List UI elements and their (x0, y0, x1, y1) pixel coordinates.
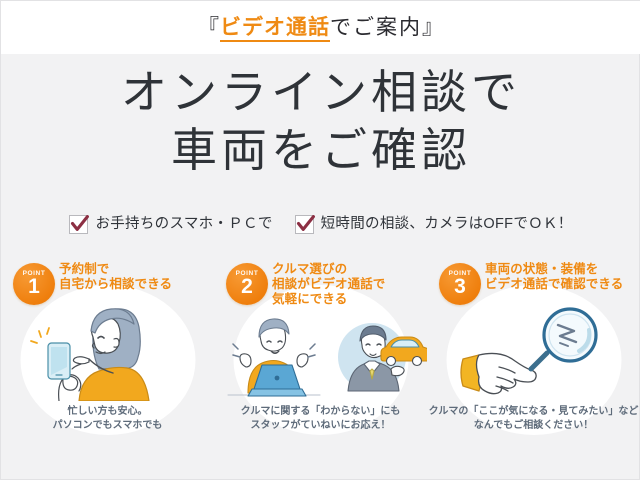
point-card-1: POINT 1 予約制で 自宅から相談できる (1, 257, 214, 457)
kicker-text: 『ビデオ通話でご案内』 (1, 13, 640, 43)
page-title: オンライン相談で 車両をご確認 (1, 63, 640, 179)
hand-holding-magnifying-glass-illustration (427, 301, 640, 401)
point-card-caption-line: クルマに関する「わからない」にも (214, 405, 427, 419)
point-badge-number: 1 (13, 276, 55, 298)
point-badge-3: POINT 3 (439, 263, 481, 305)
point-badge-number: 3 (439, 276, 481, 298)
kicker-tail: でご案内 (330, 16, 422, 39)
point-card-title-line: ビデオ通話で確認できる (485, 277, 637, 292)
point-card-title-line: 予約制で (59, 262, 211, 277)
point-card-3: POINT 3 車両の状態・装備を ビデオ通話で確認できる (427, 257, 640, 457)
headline-line-1: オンライン相談で (1, 63, 640, 121)
feature-check-item-1: お手持ちのスマホ・ＰＣで (69, 215, 272, 234)
point-badge-1: POINT 1 (13, 263, 55, 305)
point-card-title-line: 気軽にできる (272, 292, 424, 307)
point-card-caption-line: なんでもご相談ください！ (427, 419, 640, 433)
point-card-title-line: 自宅から相談できる (59, 277, 211, 292)
point-card-caption-line: クルマの「ここが気になる・見てみたい」など (427, 405, 640, 419)
point-badge-word: POINT (13, 263, 55, 277)
point-badge-2: POINT 2 (226, 263, 268, 305)
point-card-2: POINT 2 クルマ選びの 相談がビデオ通話で 気軽にできる (214, 257, 427, 457)
kicker-close-bracket: 』 (422, 16, 444, 39)
feature-check-row: お手持ちのスマホ・ＰＣで 短時間の相談、カメラはOFFでＯＫ！ (1, 215, 640, 234)
point-card-title-2: クルマ選びの 相談がビデオ通話で 気軽にできる (272, 262, 424, 307)
point-badge-number: 2 (226, 276, 268, 298)
woman-at-laptop-and-staff-with-car-illustration (214, 301, 427, 401)
feature-check-label-1: お手持ちのスマホ・ＰＣで (95, 215, 272, 234)
point-badge-word: POINT (226, 263, 268, 277)
point-card-title-line: クルマ選びの (272, 262, 424, 277)
point-card-title-1: 予約制で 自宅から相談できる (59, 262, 211, 292)
point-card-caption-1: 忙しい方も安心。 パソコンでもスマホでも (1, 405, 214, 433)
kicker-open-bracket: 『 (198, 16, 220, 39)
point-badge-word: POINT (439, 263, 481, 277)
point-card-caption-2: クルマに関する「わからない」にも スタッフがていねいにお応え！ (214, 405, 427, 433)
point-card-title-line: 車両の状態・装備を (485, 262, 637, 277)
point-card-caption-3: クルマの「ここが気になる・見てみたい」など なんでもご相談ください！ (427, 405, 640, 433)
kicker-highlight: ビデオ通話 (220, 16, 330, 42)
woman-with-smartphone-illustration (1, 301, 214, 401)
point-card-caption-line: スタッフがていねいにお応え！ (214, 419, 427, 433)
point-card-caption-line: パソコンでもスマホでも (1, 419, 214, 433)
check-icon (295, 215, 314, 234)
point-card-title-line: 相談がビデオ通話で (272, 277, 424, 292)
feature-check-label-2: 短時間の相談、カメラはOFFでＯＫ！ (321, 215, 573, 234)
point-card-caption-line: 忙しい方も安心。 (1, 405, 214, 419)
promo-banner: 『ビデオ通話でご案内』 オンライン相談で 車両をご確認 お手持ちのスマホ・ＰＣで… (0, 0, 640, 480)
check-icon (69, 215, 88, 234)
point-card-title-3: 車両の状態・装備を ビデオ通話で確認できる (485, 262, 637, 292)
headline-line-2: 車両をご確認 (1, 121, 640, 179)
feature-check-item-2: 短時間の相談、カメラはOFFでＯＫ！ (295, 215, 573, 234)
point-cards: POINT 1 予約制で 自宅から相談できる (1, 257, 640, 457)
